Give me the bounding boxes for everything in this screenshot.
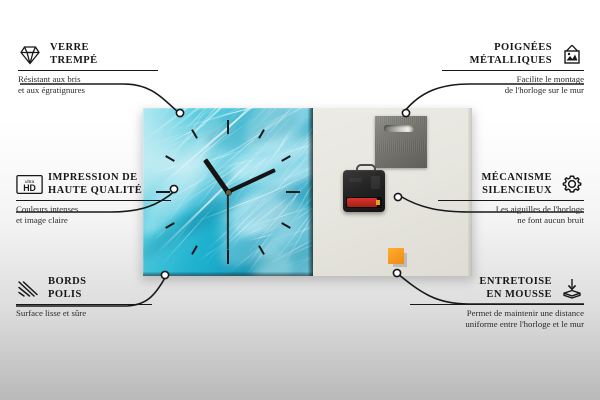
callout-title: VERRE TREMPÉ <box>50 42 98 67</box>
callout-entretoise-en-mousse: ENTRETOISE EN MOUSSE Permet de maintenir… <box>410 276 584 329</box>
product-image <box>143 108 472 276</box>
callout-rule <box>18 70 158 71</box>
callout-rule <box>410 304 584 305</box>
panel-edge-bottom <box>143 272 313 276</box>
mechanism-housing <box>343 170 385 212</box>
callout-bords-polis: BORDS POLIS Surface lisse et sûre <box>16 276 152 319</box>
quartz-mechanism <box>343 170 385 212</box>
callout-rule <box>16 200 171 201</box>
svg-text:HD: HD <box>23 183 36 193</box>
callout-rule <box>442 70 584 71</box>
diamond-icon <box>18 43 42 67</box>
ultra-hd-icon: ultra HD <box>16 173 40 197</box>
callout-title: IMPRESSION DE HAUTE QUALITÉ <box>48 172 142 197</box>
callout-description: Les aiguilles de l'horloge ne font aucun… <box>438 204 584 225</box>
hanger-slot <box>384 125 414 132</box>
callout-title: BORDS POLIS <box>48 276 86 301</box>
infographic-canvas: VERRE TREMPÉ Résistant aux bris et aux é… <box>0 0 600 400</box>
callout-title: POIGNÉES MÉTALLIQUES <box>470 42 552 67</box>
callout-rule <box>438 200 584 201</box>
hour-hand <box>203 158 230 194</box>
callout-description: Surface lisse et sûre <box>16 308 152 319</box>
spacer-arrow-icon <box>560 277 584 301</box>
foam-spacer <box>388 248 404 264</box>
polished-edges-icon <box>16 277 40 301</box>
hanging-frame-icon <box>560 43 584 67</box>
callout-description: Résistant aux bris et aux égratignures <box>18 74 158 95</box>
battery <box>347 198 377 207</box>
callout-description: Couleurs intenses et image claire <box>16 204 171 225</box>
callout-rule <box>16 304 152 305</box>
gear-icon <box>560 173 584 197</box>
clock-hub <box>226 190 231 195</box>
housing-detail-right <box>371 176 380 189</box>
callout-impression-hd: ultra HD IMPRESSION DE HAUTE QUALITÉ Cou… <box>16 172 171 225</box>
callout-description: Permet de maintenir une distance uniform… <box>410 308 584 329</box>
callout-title: MÉCANISME SILENCIEUX <box>481 172 552 197</box>
callout-mecanisme-silencieux: MÉCANISME SILENCIEUX Les aiguilles de l'… <box>438 172 584 225</box>
second-hand <box>227 192 229 250</box>
callout-poignees-metalliques: POIGNÉES MÉTALLIQUES Facilite le montage… <box>442 42 584 95</box>
minute-hand <box>227 168 276 194</box>
callout-title: ENTRETOISE EN MOUSSE <box>479 276 552 301</box>
housing-detail-left <box>349 178 362 182</box>
callout-description: Facilite le montage de l'horloge sur le … <box>442 74 584 95</box>
callout-verre-trempe: VERRE TREMPÉ Résistant aux bris et aux é… <box>18 42 158 95</box>
metal-hanger-plate <box>375 116 427 168</box>
